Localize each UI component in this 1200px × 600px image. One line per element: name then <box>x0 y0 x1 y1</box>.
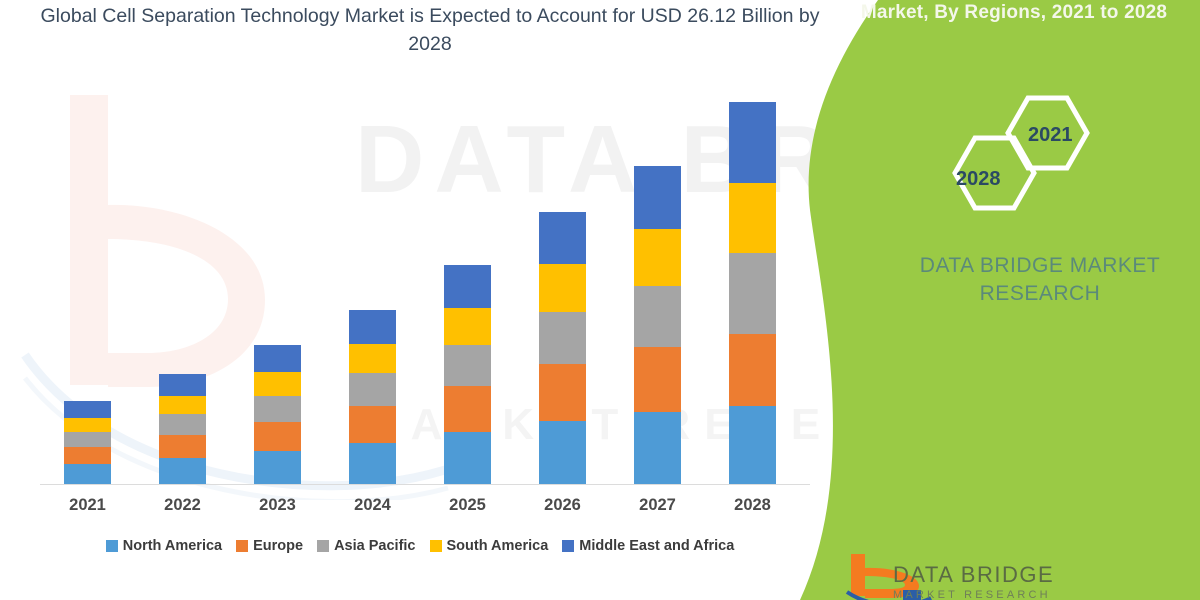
x-axis-tick-label: 2024 <box>328 496 418 515</box>
legend-label: South America <box>447 538 549 554</box>
hexagon-badges <box>930 90 1130 220</box>
chart-title: Global Cell Separation Technology Market… <box>40 2 820 58</box>
stacked-bar[interactable] <box>729 102 776 484</box>
bar-segment[interactable] <box>444 432 491 484</box>
stacked-bar[interactable] <box>444 265 491 484</box>
bar-segment[interactable] <box>539 212 586 264</box>
legend-item[interactable]: Europe <box>236 538 303 554</box>
legend-label: Middle East and Africa <box>579 538 734 554</box>
infographic-canvas: DATA BRIDGE MARKET RESEARCH Market, By R… <box>0 0 1200 600</box>
bar-segment[interactable] <box>634 347 681 412</box>
x-axis-tick-label: 2028 <box>708 496 798 515</box>
bar-segment[interactable] <box>159 414 206 435</box>
x-axis-labels: 20212022202320242025202620272028 <box>40 496 800 515</box>
stacked-bar[interactable] <box>634 166 681 484</box>
bar-segment[interactable] <box>64 418 111 432</box>
legend-swatch <box>317 540 329 552</box>
hexagon-label-left: 2028 <box>956 168 1001 191</box>
bar-segment[interactable] <box>254 451 301 484</box>
bar-segment[interactable] <box>729 183 776 253</box>
bar-segment[interactable] <box>729 406 776 484</box>
hexagon-label-right: 2021 <box>1028 124 1073 147</box>
legend-label: Asia Pacific <box>334 538 415 554</box>
panel-brand-line1: DATA BRIDGE MARKET <box>890 252 1190 280</box>
bar-segment[interactable] <box>349 310 396 344</box>
x-axis-tick-label: 2027 <box>613 496 703 515</box>
panel-brand-line2: RESEARCH <box>890 280 1190 308</box>
legend-item[interactable]: Middle East and Africa <box>562 538 734 554</box>
bar-segment[interactable] <box>729 334 776 406</box>
bar-segment[interactable] <box>254 422 301 451</box>
x-axis-tick-label: 2025 <box>423 496 513 515</box>
bar-column <box>233 70 323 484</box>
stacked-bar[interactable] <box>159 374 206 484</box>
bar-segment[interactable] <box>539 264 586 312</box>
bar-segment[interactable] <box>159 435 206 458</box>
chart-legend: North AmericaEuropeAsia PacificSouth Ame… <box>40 538 800 554</box>
legend-swatch <box>562 540 574 552</box>
x-axis-tick-label: 2021 <box>43 496 133 515</box>
bar-segment[interactable] <box>634 229 681 286</box>
stacked-bar[interactable] <box>64 401 111 484</box>
bar-segment[interactable] <box>349 443 396 484</box>
bar-segment[interactable] <box>349 406 396 443</box>
bar-segment[interactable] <box>64 401 111 417</box>
bar-segment[interactable] <box>539 312 586 364</box>
bar-segment[interactable] <box>349 344 396 373</box>
x-axis-line <box>40 484 810 485</box>
x-axis-tick-label: 2023 <box>233 496 323 515</box>
bar-segment[interactable] <box>444 265 491 307</box>
legend-swatch <box>236 540 248 552</box>
legend-swatch <box>106 540 118 552</box>
panel-brand-text: DATA BRIDGE MARKET RESEARCH <box>890 252 1190 308</box>
bar-column <box>43 70 133 484</box>
bar-segment[interactable] <box>444 386 491 432</box>
bar-segment[interactable] <box>64 432 111 447</box>
bar-column <box>708 70 798 484</box>
panel-heading: Market, By Regions, 2021 to 2028 <box>828 2 1200 24</box>
bar-column <box>613 70 703 484</box>
bar-segment[interactable] <box>254 372 301 396</box>
bar-segment[interactable] <box>729 102 776 184</box>
bar-segment[interactable] <box>634 286 681 347</box>
logo-name: DATA BRIDGE <box>893 562 1054 588</box>
bar-segment[interactable] <box>254 396 301 422</box>
bar-segment[interactable] <box>634 412 681 484</box>
bar-segment[interactable] <box>539 421 586 484</box>
legend-item[interactable]: Asia Pacific <box>317 538 415 554</box>
legend-item[interactable]: North America <box>106 538 222 554</box>
bar-segment[interactable] <box>444 308 491 345</box>
bar-segment[interactable] <box>444 345 491 386</box>
stacked-bar[interactable] <box>349 310 396 484</box>
stacked-bar[interactable] <box>539 212 586 484</box>
bar-column <box>138 70 228 484</box>
bar-segment[interactable] <box>159 374 206 396</box>
bar-segment[interactable] <box>159 458 206 484</box>
legend-swatch <box>430 540 442 552</box>
logo-subtitle: MARKET RESEARCH <box>893 589 1051 600</box>
bar-column <box>518 70 608 484</box>
legend-label: Europe <box>253 538 303 554</box>
x-axis-tick-label: 2022 <box>138 496 228 515</box>
legend-item[interactable]: South America <box>430 538 549 554</box>
bar-segment[interactable] <box>729 253 776 334</box>
bar-segment[interactable] <box>254 345 301 372</box>
legend-label: North America <box>123 538 222 554</box>
bar-segment[interactable] <box>349 373 396 406</box>
bar-chart-plot-area <box>40 70 800 484</box>
x-axis-tick-label: 2026 <box>518 496 608 515</box>
bar-column <box>328 70 418 484</box>
stacked-bar[interactable] <box>254 345 301 484</box>
bar-segment[interactable] <box>64 464 111 484</box>
bar-segment[interactable] <box>539 364 586 421</box>
bar-segment[interactable] <box>159 396 206 415</box>
bar-segment[interactable] <box>634 166 681 229</box>
bar-column <box>423 70 513 484</box>
bar-segment[interactable] <box>64 447 111 464</box>
